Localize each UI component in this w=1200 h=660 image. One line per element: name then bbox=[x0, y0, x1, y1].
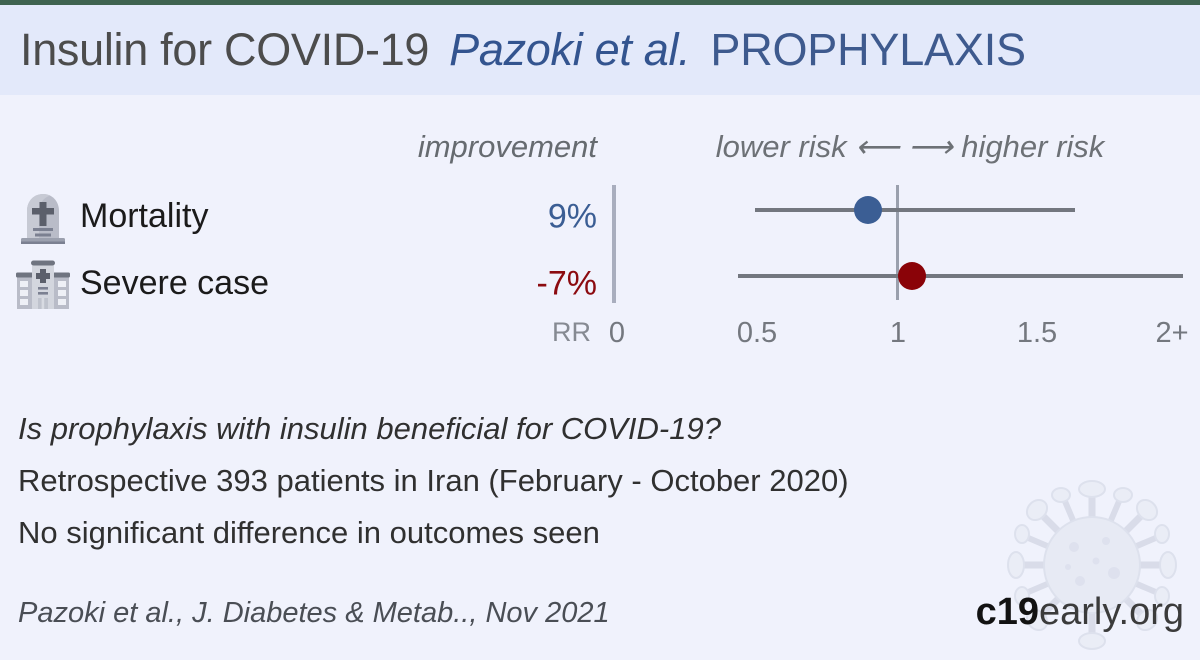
study-summary-card: Insulin for COVID-19 Pazoki et al. PROPH… bbox=[0, 0, 1200, 653]
axis-tick-label: 2+ bbox=[1155, 317, 1188, 350]
page-title: Insulin for COVID-19 bbox=[20, 24, 429, 76]
reference-line bbox=[896, 185, 899, 300]
risk-direction-header: lower risk ⟵ ⟶ higher risk bbox=[630, 129, 1190, 165]
site-logo[interactable]: c19early.org bbox=[976, 591, 1184, 634]
axis-tick-label: 0.5 bbox=[737, 317, 777, 350]
citation: Pazoki et al., J. Diabetes & Metab.., No… bbox=[18, 597, 610, 630]
effect-marker[interactable] bbox=[898, 262, 926, 290]
summary-text: Is prophylaxis with insulin beneficial f… bbox=[18, 403, 1028, 559]
forest-plot bbox=[0, 177, 1200, 307]
axis-tick-label: 0 bbox=[609, 317, 625, 350]
axis-tick-label: 1.5 bbox=[1017, 317, 1057, 350]
axis-unit-label: RR bbox=[552, 317, 591, 348]
confidence-interval-line bbox=[755, 208, 1075, 212]
effect-marker[interactable] bbox=[854, 196, 882, 224]
summary-result: No significant difference in outcomes se… bbox=[18, 507, 1028, 559]
treatment-stage-badge: PROPHYLAXIS bbox=[710, 24, 1025, 76]
improvement-column-header: improvement bbox=[300, 129, 597, 165]
confidence-interval-line bbox=[738, 274, 1183, 278]
summary-question: Is prophylaxis with insulin beneficial f… bbox=[18, 403, 1028, 455]
axis-tick-label: 1 bbox=[890, 317, 906, 350]
summary-design: Retrospective 393 patients in Iran (Febr… bbox=[18, 455, 1028, 507]
logo-bold-text: c19 bbox=[976, 591, 1039, 633]
logo-rest-text: early.org bbox=[1039, 591, 1184, 633]
study-authors: Pazoki et al. bbox=[449, 24, 690, 76]
x-axis: RR 0 0.5 1 1.5 2+ bbox=[0, 317, 1200, 357]
header-bar: Insulin for COVID-19 Pazoki et al. PROPH… bbox=[0, 5, 1200, 95]
